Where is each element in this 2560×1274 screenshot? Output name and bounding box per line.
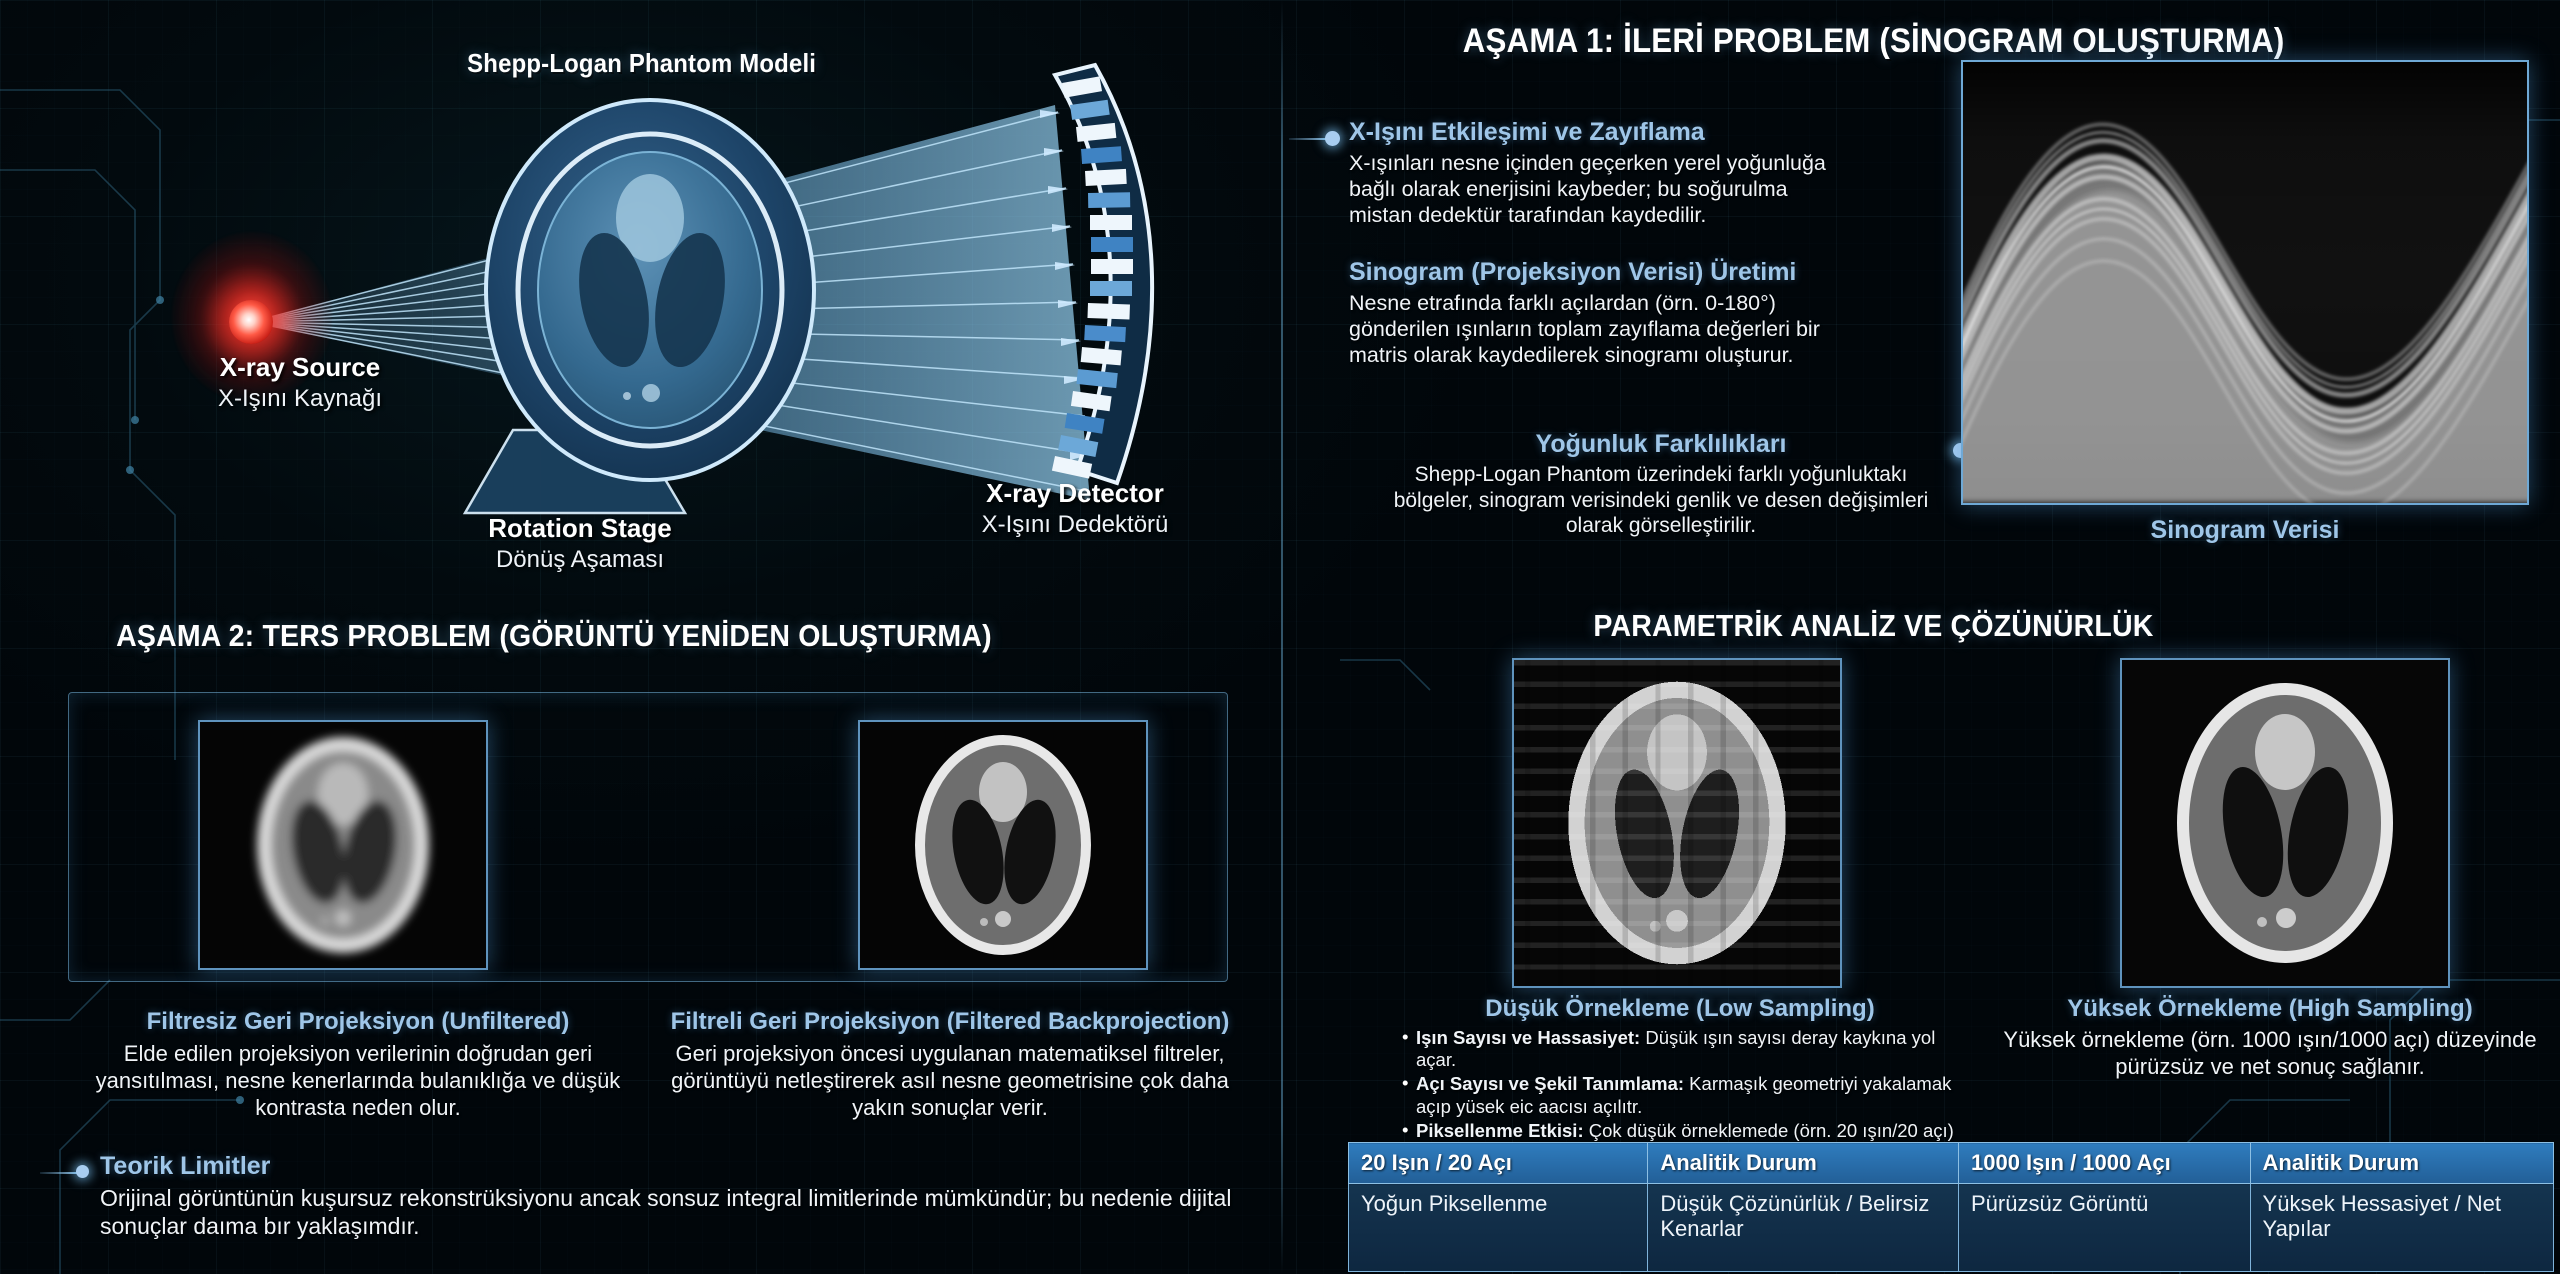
connector-line-3 <box>40 1172 80 1174</box>
stage2-title: AŞAMA 2: TERS PROBLEM (GÖRÜNTÜ YENİDEN O… <box>116 618 992 654</box>
stage1-title: AŞAMA 1: İLERİ PROBLEM (SİNOGRAM OLUŞTUR… <box>1463 22 2285 61</box>
bullet-dot-icon-3 <box>76 1165 89 1178</box>
low-table-header-1: 20 Işın / 20 Açı <box>1349 1143 1648 1184</box>
low-table-cell-2: Düşük Çözünürlük / Belirsiz Kenarlar <box>1648 1184 1960 1272</box>
stage2-card-1: Filtresiz Geri Projeksiyon (Unfiltered) … <box>78 1008 638 1121</box>
table-header-row: 1000 Işın / 1000 Açı Analitik Durum <box>1959 1143 2554 1184</box>
stage1-block-1-body: X-ışınları nesne içinden geçerken yerel … <box>1349 150 1849 229</box>
stage1-block-3: Yoğunluk Farklılıkları Shepp-Logan Phant… <box>1381 430 1941 539</box>
filtered-render <box>860 722 1146 968</box>
unfiltered-reconstruction-image <box>198 720 488 970</box>
sinogram-image <box>1961 60 2529 505</box>
stage2-card-1-caption: Filtresiz Geri Projeksiyon (Unfiltered) <box>78 1008 638 1036</box>
stage2-footnote: Teorik Limitler Orijinal görüntünün kuşu… <box>100 1152 1240 1240</box>
table-row: Pürüzsüz Görüntü Yüksek Hessasiyet / Net… <box>1959 1184 2554 1272</box>
low-sampling-block: Düşük Örnekleme (Low Sampling) Işın Sayı… <box>1400 995 1960 1166</box>
scanner-diagram: Shepp-Logan Phantom Modeli <box>0 0 1281 600</box>
low-sampling-render <box>1514 660 1840 986</box>
high-table-cell-1: Pürüzsüz Görüntü <box>1959 1184 2251 1272</box>
stage1-block-2-heading: Sinogram (Projeksiyon Verisi) Üretimi <box>1349 258 1859 287</box>
low-sampling-bullet-2-lead: Açı Sayısı ve Şekil Tanımlama: <box>1416 1073 1684 1094</box>
high-table-header-2: Analitik Durum <box>2250 1143 2553 1184</box>
label-xray-source-tr: X-Işını Kaynağı <box>165 385 435 413</box>
stage1-section: AŞAMA 1: İLERİ PROBLEM (SİNOGRAM OLUŞTUR… <box>1281 0 2560 600</box>
table-header-row: 20 Işın / 20 Açı Analitik Durum <box>1349 1143 1960 1184</box>
stage2-card-2-body: Geri projeksiyon öncesi uygulanan matema… <box>655 1041 1245 1121</box>
stage2-card-2: Filtreli Geri Projeksiyon (Filtered Back… <box>655 1008 1245 1121</box>
stage2-card-2-caption: Filtreli Geri Projeksiyon (Filtered Back… <box>655 1008 1245 1036</box>
high-sampling-body: Yüksek örnekleme (örn. 1000 ışın/1000 aç… <box>1990 1027 2550 1081</box>
low-sampling-table-wrap: 20 Işın / 20 Açı Analitik Durum Yoğun Pi… <box>1348 1142 1960 1272</box>
high-sampling-image <box>2120 658 2450 988</box>
stage1-block-1: X-Işını Etkileşimi ve Zayıflama X-ışınla… <box>1349 118 1849 229</box>
stage1-block-2: Sinogram (Projeksiyon Verisi) Üretimi Ne… <box>1349 258 1859 369</box>
label-xray-source-en: X-ray Source <box>165 352 435 383</box>
low-sampling-bullet-3-lead: Piksellenme Etkisi: <box>1416 1120 1584 1141</box>
stage2-footnote-heading: Teorik Limitler <box>100 1152 1240 1181</box>
label-rotation-stage-en: Rotation Stage <box>440 513 720 544</box>
sinogram-render <box>1963 62 2527 503</box>
label-rotation-stage-tr: Dönüş Aşaması <box>440 546 720 574</box>
low-sampling-bullet-2: Açı Sayısı ve Şekil Tanımlama: Karmaşık … <box>1400 1073 1960 1117</box>
label-rotation-stage: Rotation Stage Dönüş Aşaması <box>440 513 720 574</box>
low-sampling-bullet-1: Işın Sayısı ve Hassasiyet: Düşük ışın sa… <box>1400 1027 1960 1071</box>
stage1-block-3-heading: Yoğunluk Farklılıkları <box>1381 430 1941 459</box>
bullet-dot-icon-1 <box>1325 131 1340 146</box>
high-sampling-table: 1000 Işın / 1000 Açı Analitik Durum Pürü… <box>1958 1142 2554 1272</box>
low-sampling-table: 20 Işın / 20 Açı Analitik Durum Yoğun Pi… <box>1348 1142 1960 1272</box>
infographic-canvas: Shepp-Logan Phantom Modeli <box>0 0 2560 1274</box>
stage2-footnote-body: Orijinal görüntünün kuşursuz rekonstrüks… <box>100 1184 1240 1240</box>
high-table-header-1: 1000 Işın / 1000 Açı <box>1959 1143 2251 1184</box>
label-xray-source: X-ray Source X-Işını Kaynağı <box>165 352 435 413</box>
filtered-reconstruction-image <box>858 720 1148 970</box>
parametric-title: PARAMETRİK ANALİZ VE ÇÖZÜNÜRLÜK <box>1593 608 2153 644</box>
high-sampling-render <box>2122 660 2448 986</box>
low-table-cell-1: Yoğun Piksellenme <box>1349 1184 1648 1272</box>
low-sampling-bullet-1-lead: Işın Sayısı ve Hassasiyet: <box>1416 1027 1640 1048</box>
xray-source-core <box>229 300 273 344</box>
stage2-card-1-body: Elde edilen projeksiyon verilerinin doğr… <box>78 1041 638 1121</box>
high-sampling-table-wrap: 1000 Işın / 1000 Açı Analitik Durum Pürü… <box>1958 1142 2554 1272</box>
high-sampling-caption: Yüksek Örnekleme (High Sampling) <box>1990 995 2550 1023</box>
stage1-block-2-body: Nesne etrafında farklı açılardan (örn. 0… <box>1349 290 1859 369</box>
sinogram-caption: Sinogram Verisi <box>1961 516 2529 545</box>
low-table-header-2: Analitik Durum <box>1648 1143 1960 1184</box>
connector-line-1 <box>1289 138 1329 140</box>
high-sampling-block: Yüksek Örnekleme (High Sampling) Yüksek … <box>1990 995 2550 1081</box>
low-sampling-image <box>1512 658 1842 988</box>
low-sampling-caption: Düşük Örnekleme (Low Sampling) <box>1400 995 1960 1023</box>
label-xray-detector: X-ray Detector X-Işını Dedektörü <box>915 478 1235 539</box>
stage1-block-1-heading: X-Işını Etkileşimi ve Zayıflama <box>1349 118 1849 147</box>
high-table-cell-2: Yüksek Hessasiyet / Net Yapılar <box>2250 1184 2553 1272</box>
table-row: Yoğun Piksellenme Düşük Çözünürlük / Bel… <box>1349 1184 1960 1272</box>
label-xray-detector-tr: X-Işını Dedektörü <box>915 511 1235 539</box>
stage1-block-3-body: Shepp-Logan Phantom üzerindeki farklı yo… <box>1381 462 1941 539</box>
unfiltered-render <box>200 722 486 968</box>
label-xray-detector-en: X-ray Detector <box>915 478 1235 509</box>
